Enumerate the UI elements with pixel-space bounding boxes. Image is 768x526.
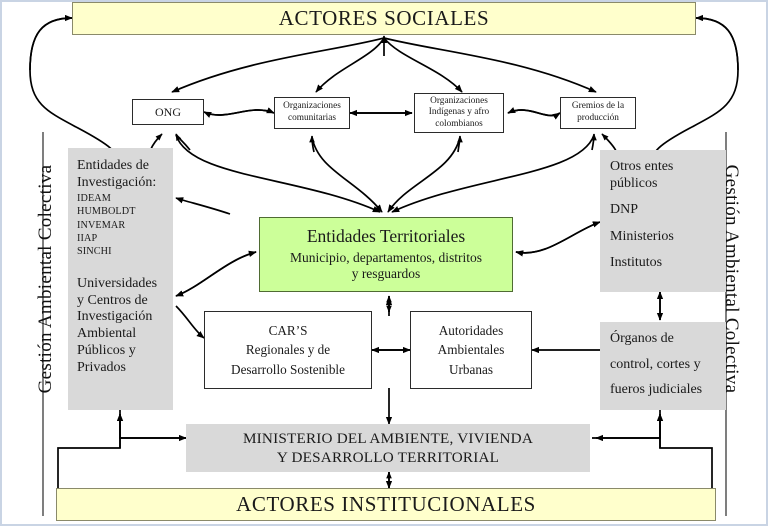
node-gremios-produccion-label: Gremios de la producción	[572, 101, 624, 124]
public-entities-line1: Otros entes	[610, 159, 673, 176]
research-heading: Entidades de Investigación:	[77, 158, 156, 192]
control-line3: fueros judiciales	[610, 382, 702, 399]
node-entidades-investigacion: Entidades de Investigación: IDEAM HUMBOL…	[68, 148, 173, 410]
diagram-canvas: ACTORES SOCIALES ACTORES INSTITUCIONALES…	[0, 0, 768, 526]
research-acronym-humboldt: HUMBOLDT	[77, 205, 136, 218]
node-otros-entes-publicos: Otros entes públicos DNP Ministerios Ins…	[600, 150, 726, 292]
public-entities-ministerios: Ministerios	[610, 229, 674, 246]
public-entities-institutos: Institutos	[610, 255, 662, 272]
research-acronym-iiap: IIAP	[77, 232, 97, 245]
urban-line1: Autoridades	[439, 321, 503, 340]
node-ministerio-ambiente: MINISTERIO DEL AMBIENTE, VIVIENDA Y DESA…	[186, 424, 590, 472]
node-autoridades-ambientales-urbanas: Autoridades Ambientales Urbanas	[410, 311, 532, 389]
cars-line3: Desarrollo Sostenible	[231, 360, 345, 379]
cars-line2: Regionales y de	[246, 340, 330, 359]
urban-line3: Urbanas	[449, 360, 493, 379]
node-organizaciones-comunitarias-label: Organizaciones comunitarias	[283, 101, 341, 124]
node-ong-label: ONG	[155, 105, 181, 120]
urban-line2: Ambientales	[438, 340, 505, 359]
research-acronym-sinchi: SINCHI	[77, 245, 112, 258]
node-gremios-produccion: Gremios de la producción	[560, 97, 636, 129]
node-organizaciones-indigenas-afro: Organizaciones Indígenas y afro colombia…	[414, 93, 504, 133]
territorial-subtitle: Municipio, departamentos, distritos y re…	[290, 250, 482, 283]
banner-actores-sociales: ACTORES SOCIALES	[72, 2, 696, 35]
public-entities-dnp: DNP	[610, 202, 638, 219]
research-acronym-invemar: INVEMAR	[77, 219, 125, 232]
banner-top-label: ACTORES SOCIALES	[279, 6, 490, 31]
side-label-left: Gestión Ambiental Colectiva	[35, 114, 57, 444]
control-line1: Órganos de	[610, 331, 674, 348]
ministry-line2: Y DESARROLLO TERRITORIAL	[277, 448, 499, 467]
node-organos-control: Órganos de control, cortes y fueros judi…	[600, 322, 726, 410]
node-ong: ONG	[132, 99, 204, 125]
ministry-line1: MINISTERIO DEL AMBIENTE, VIVIENDA	[243, 429, 533, 448]
research-universities-block: Universidades y Centros de Investigación…	[77, 276, 157, 377]
node-cars-regionales: CAR’S Regionales y de Desarrollo Sosteni…	[204, 311, 372, 389]
node-organizaciones-comunitarias: Organizaciones comunitarias	[274, 97, 350, 129]
banner-actores-institucionales: ACTORES INSTITUCIONALES	[56, 488, 716, 521]
territorial-title: Entidades Territoriales	[307, 226, 465, 247]
node-organizaciones-indigenas-afro-label: Organizaciones Indígenas y afro colombia…	[429, 96, 489, 131]
node-entidades-territoriales: Entidades Territoriales Municipio, depar…	[259, 217, 513, 292]
banner-bottom-label: ACTORES INSTITUCIONALES	[236, 492, 536, 517]
cars-line1: CAR’S	[269, 321, 308, 340]
public-entities-line2: públicos	[610, 176, 657, 193]
research-acronym-ideam: IDEAM	[77, 192, 111, 205]
control-line2: control, cortes y	[610, 357, 701, 374]
